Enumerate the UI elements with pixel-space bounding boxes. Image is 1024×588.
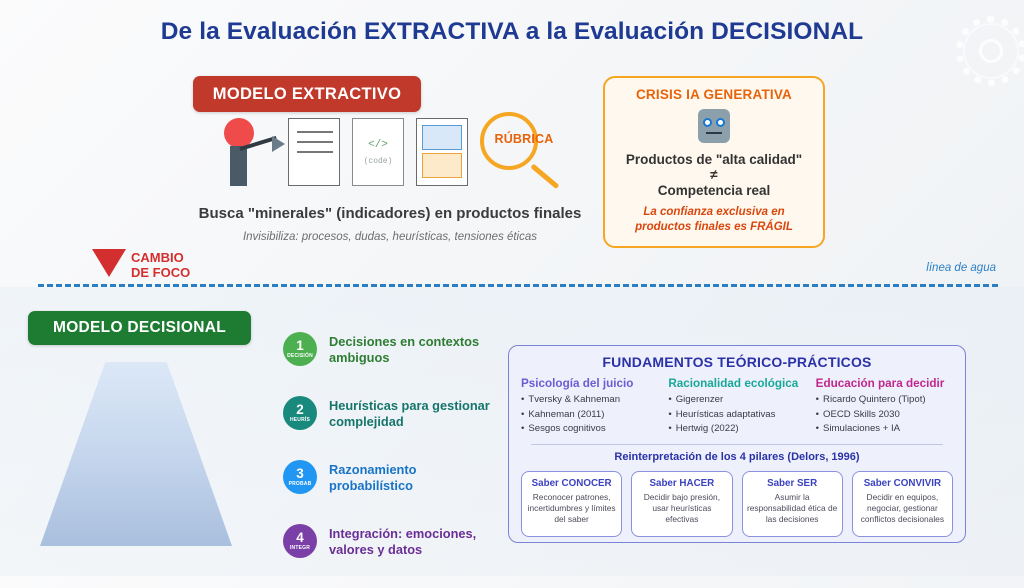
document-code-icon: </> (code) bbox=[352, 118, 404, 186]
miner-body bbox=[230, 146, 247, 186]
document-lines-icon bbox=[288, 118, 340, 186]
magnifier-icon: RÚBRICA bbox=[476, 108, 568, 196]
pillar-title: Saber SER bbox=[747, 478, 838, 489]
list-item: Heurísticas adaptativas bbox=[668, 408, 805, 423]
step-number: 2 bbox=[296, 403, 304, 417]
badge-modelo-extractivo: MODELO EXTRACTIVO bbox=[193, 76, 421, 112]
step-tag: PROBAB bbox=[289, 482, 312, 487]
pillar-desc: Reconocer patrones, incertidumbres y lím… bbox=[526, 492, 617, 526]
page-title: De la Evaluación EXTRACTIVA a la Evaluac… bbox=[0, 18, 1024, 46]
rubrica-label: RÚBRICA bbox=[474, 132, 574, 146]
column-heading: Educación para decidir bbox=[816, 377, 953, 390]
crisis-ia-generativa-card: CRISIS IA GENERATIVA Productos de "alta … bbox=[603, 76, 825, 248]
fundamentos-column-racionalidad: Racionalidad ecológica Gigerenzer Heurís… bbox=[668, 377, 805, 437]
infographic-canvas: De la Evaluación EXTRACTIVA a la Evaluac… bbox=[0, 0, 1024, 576]
step-circle-2: 2 HEURÍS bbox=[283, 396, 317, 430]
list-item: Tversky & Kahneman bbox=[521, 393, 658, 408]
step-text: Decisiones en contextos ambiguos bbox=[329, 334, 499, 365]
doc-line bbox=[297, 151, 333, 153]
step-text: Heurísticas para gestionar complejidad bbox=[329, 398, 499, 429]
column-list: Tversky & Kahneman Kahneman (2011) Sesgo… bbox=[521, 393, 658, 437]
waterline-divider bbox=[38, 284, 998, 287]
pillar-desc: Decidir en equipos, negociar, gestionar … bbox=[857, 492, 948, 526]
document-blocks-icon bbox=[416, 118, 468, 186]
triangle-down-icon bbox=[92, 249, 126, 277]
step-text: Razonamiento probabilístico bbox=[329, 462, 499, 493]
fundamentos-column-psicologia: Psicología del juicio Tversky & Kahneman… bbox=[521, 377, 658, 437]
fundamentos-title: FUNDAMENTOS TEÓRICO-PRÁCTICOS bbox=[521, 354, 953, 370]
crisis-line-2: Competencia real bbox=[615, 183, 813, 198]
code-glyph: </> bbox=[368, 139, 388, 151]
column-heading: Psicología del juicio bbox=[521, 377, 658, 390]
step-circle-3: 3 PROBAB bbox=[283, 460, 317, 494]
list-item: Gigerenzer bbox=[668, 393, 805, 408]
list-item: Hertwig (2022) bbox=[668, 422, 805, 437]
doc-block-orange bbox=[422, 153, 462, 178]
list-item: Simulaciones + IA bbox=[816, 422, 953, 437]
list-item: 4 INTEGR Integración: emociones, valores… bbox=[283, 524, 498, 586]
divider bbox=[531, 444, 943, 445]
doc-block-blue bbox=[422, 125, 462, 150]
robot-eye-left bbox=[703, 118, 712, 127]
crisis-line-1: Productos de "alta calidad" bbox=[615, 152, 813, 167]
doc-line bbox=[297, 141, 333, 143]
robot-face-icon bbox=[698, 109, 730, 143]
cambio-de-foco-label: CAMBIO DE FOCO bbox=[131, 250, 190, 281]
robot-mouth bbox=[706, 132, 722, 134]
extractive-caption: Busca "minerales" (indicadores) en produ… bbox=[150, 205, 630, 222]
step-circle-1: 1 DECISIÓN bbox=[283, 332, 317, 366]
list-item: 1 DECISIÓN Decisiones en contextos ambig… bbox=[283, 332, 498, 394]
badge-modelo-decisional: MODELO DECISIONAL bbox=[28, 311, 251, 345]
decisional-steps-list: 1 DECISIÓN Decisiones en contextos ambig… bbox=[283, 332, 498, 588]
pillar-card-convivir: Saber CONVIVIR Decidir en equipos, negoc… bbox=[852, 471, 953, 537]
step-number: 3 bbox=[296, 467, 304, 481]
extractive-subcaption: Invisibiliza: procesos, dudas, heurístic… bbox=[150, 231, 630, 243]
pillar-title: Saber CONOCER bbox=[526, 478, 617, 489]
doc-line bbox=[297, 131, 333, 133]
miner-figure-icon bbox=[210, 114, 282, 190]
step-text: Integración: emociones, valores y datos bbox=[329, 526, 499, 557]
fundamentos-columns: Psicología del juicio Tversky & Kahneman… bbox=[521, 377, 953, 437]
step-tag: DECISIÓN bbox=[287, 354, 313, 359]
fundamentos-subtitle: Reinterpretación de los 4 pilares (Delor… bbox=[521, 451, 953, 463]
pillar-title: Saber CONVIVIR bbox=[857, 478, 948, 489]
step-circle-4: 4 INTEGR bbox=[283, 524, 317, 558]
list-item: 2 HEURÍS Heurísticas para gestionar comp… bbox=[283, 396, 498, 458]
crisis-title: CRISIS IA GENERATIVA bbox=[615, 87, 813, 102]
pillar-card-hacer: Saber HACER Decidir bajo presión, usar h… bbox=[631, 471, 732, 537]
pillar-card-conocer: Saber CONOCER Reconocer patrones, incert… bbox=[521, 471, 622, 537]
code-label: (code) bbox=[364, 157, 393, 166]
waterline-label: línea de agua bbox=[926, 262, 996, 274]
pillar-title: Saber HACER bbox=[636, 478, 727, 489]
column-list: Ricardo Quintero (Tipot) OECD Skills 203… bbox=[816, 393, 953, 437]
robot-eye-right bbox=[716, 118, 725, 127]
column-heading: Racionalidad ecológica bbox=[668, 377, 805, 390]
list-item: Sesgos cognitivos bbox=[521, 422, 658, 437]
step-number: 4 bbox=[296, 531, 304, 545]
pillar-desc: Asumir la responsabilidad ética de las d… bbox=[747, 492, 838, 526]
crisis-note: La confianza exclusiva en productos fina… bbox=[615, 205, 813, 236]
magnifier-handle bbox=[531, 164, 560, 189]
pillars-row: Saber CONOCER Reconocer patrones, incert… bbox=[521, 471, 953, 537]
cambio-de-foco-line-2: DE FOCO bbox=[131, 265, 190, 280]
step-tag: HEURÍS bbox=[290, 418, 310, 423]
list-item: 3 PROBAB Razonamiento probabilístico bbox=[283, 460, 498, 522]
fundamentos-panel: FUNDAMENTOS TEÓRICO-PRÁCTICOS Psicología… bbox=[508, 345, 966, 543]
pillar-card-ser: Saber SER Asumir la responsabilidad étic… bbox=[742, 471, 843, 537]
step-tag: INTEGR bbox=[290, 546, 310, 551]
list-item: OECD Skills 2030 bbox=[816, 408, 953, 423]
pillar-desc: Decidir bajo presión, usar heurísticas e… bbox=[636, 492, 727, 526]
crisis-not-equal-symbol: ≠ bbox=[615, 167, 813, 183]
extractive-scene: </> (code) RÚBRICA bbox=[200, 112, 570, 192]
fundamentos-column-educacion: Educación para decidir Ricardo Quintero … bbox=[816, 377, 953, 437]
arrow-right-icon bbox=[272, 136, 285, 152]
step-number: 1 bbox=[296, 339, 304, 353]
list-item: Ricardo Quintero (Tipot) bbox=[816, 393, 953, 408]
list-item: Kahneman (2011) bbox=[521, 408, 658, 423]
column-list: Gigerenzer Heurísticas adaptativas Hertw… bbox=[668, 393, 805, 437]
cambio-de-foco-line-1: CAMBIO bbox=[131, 250, 190, 265]
